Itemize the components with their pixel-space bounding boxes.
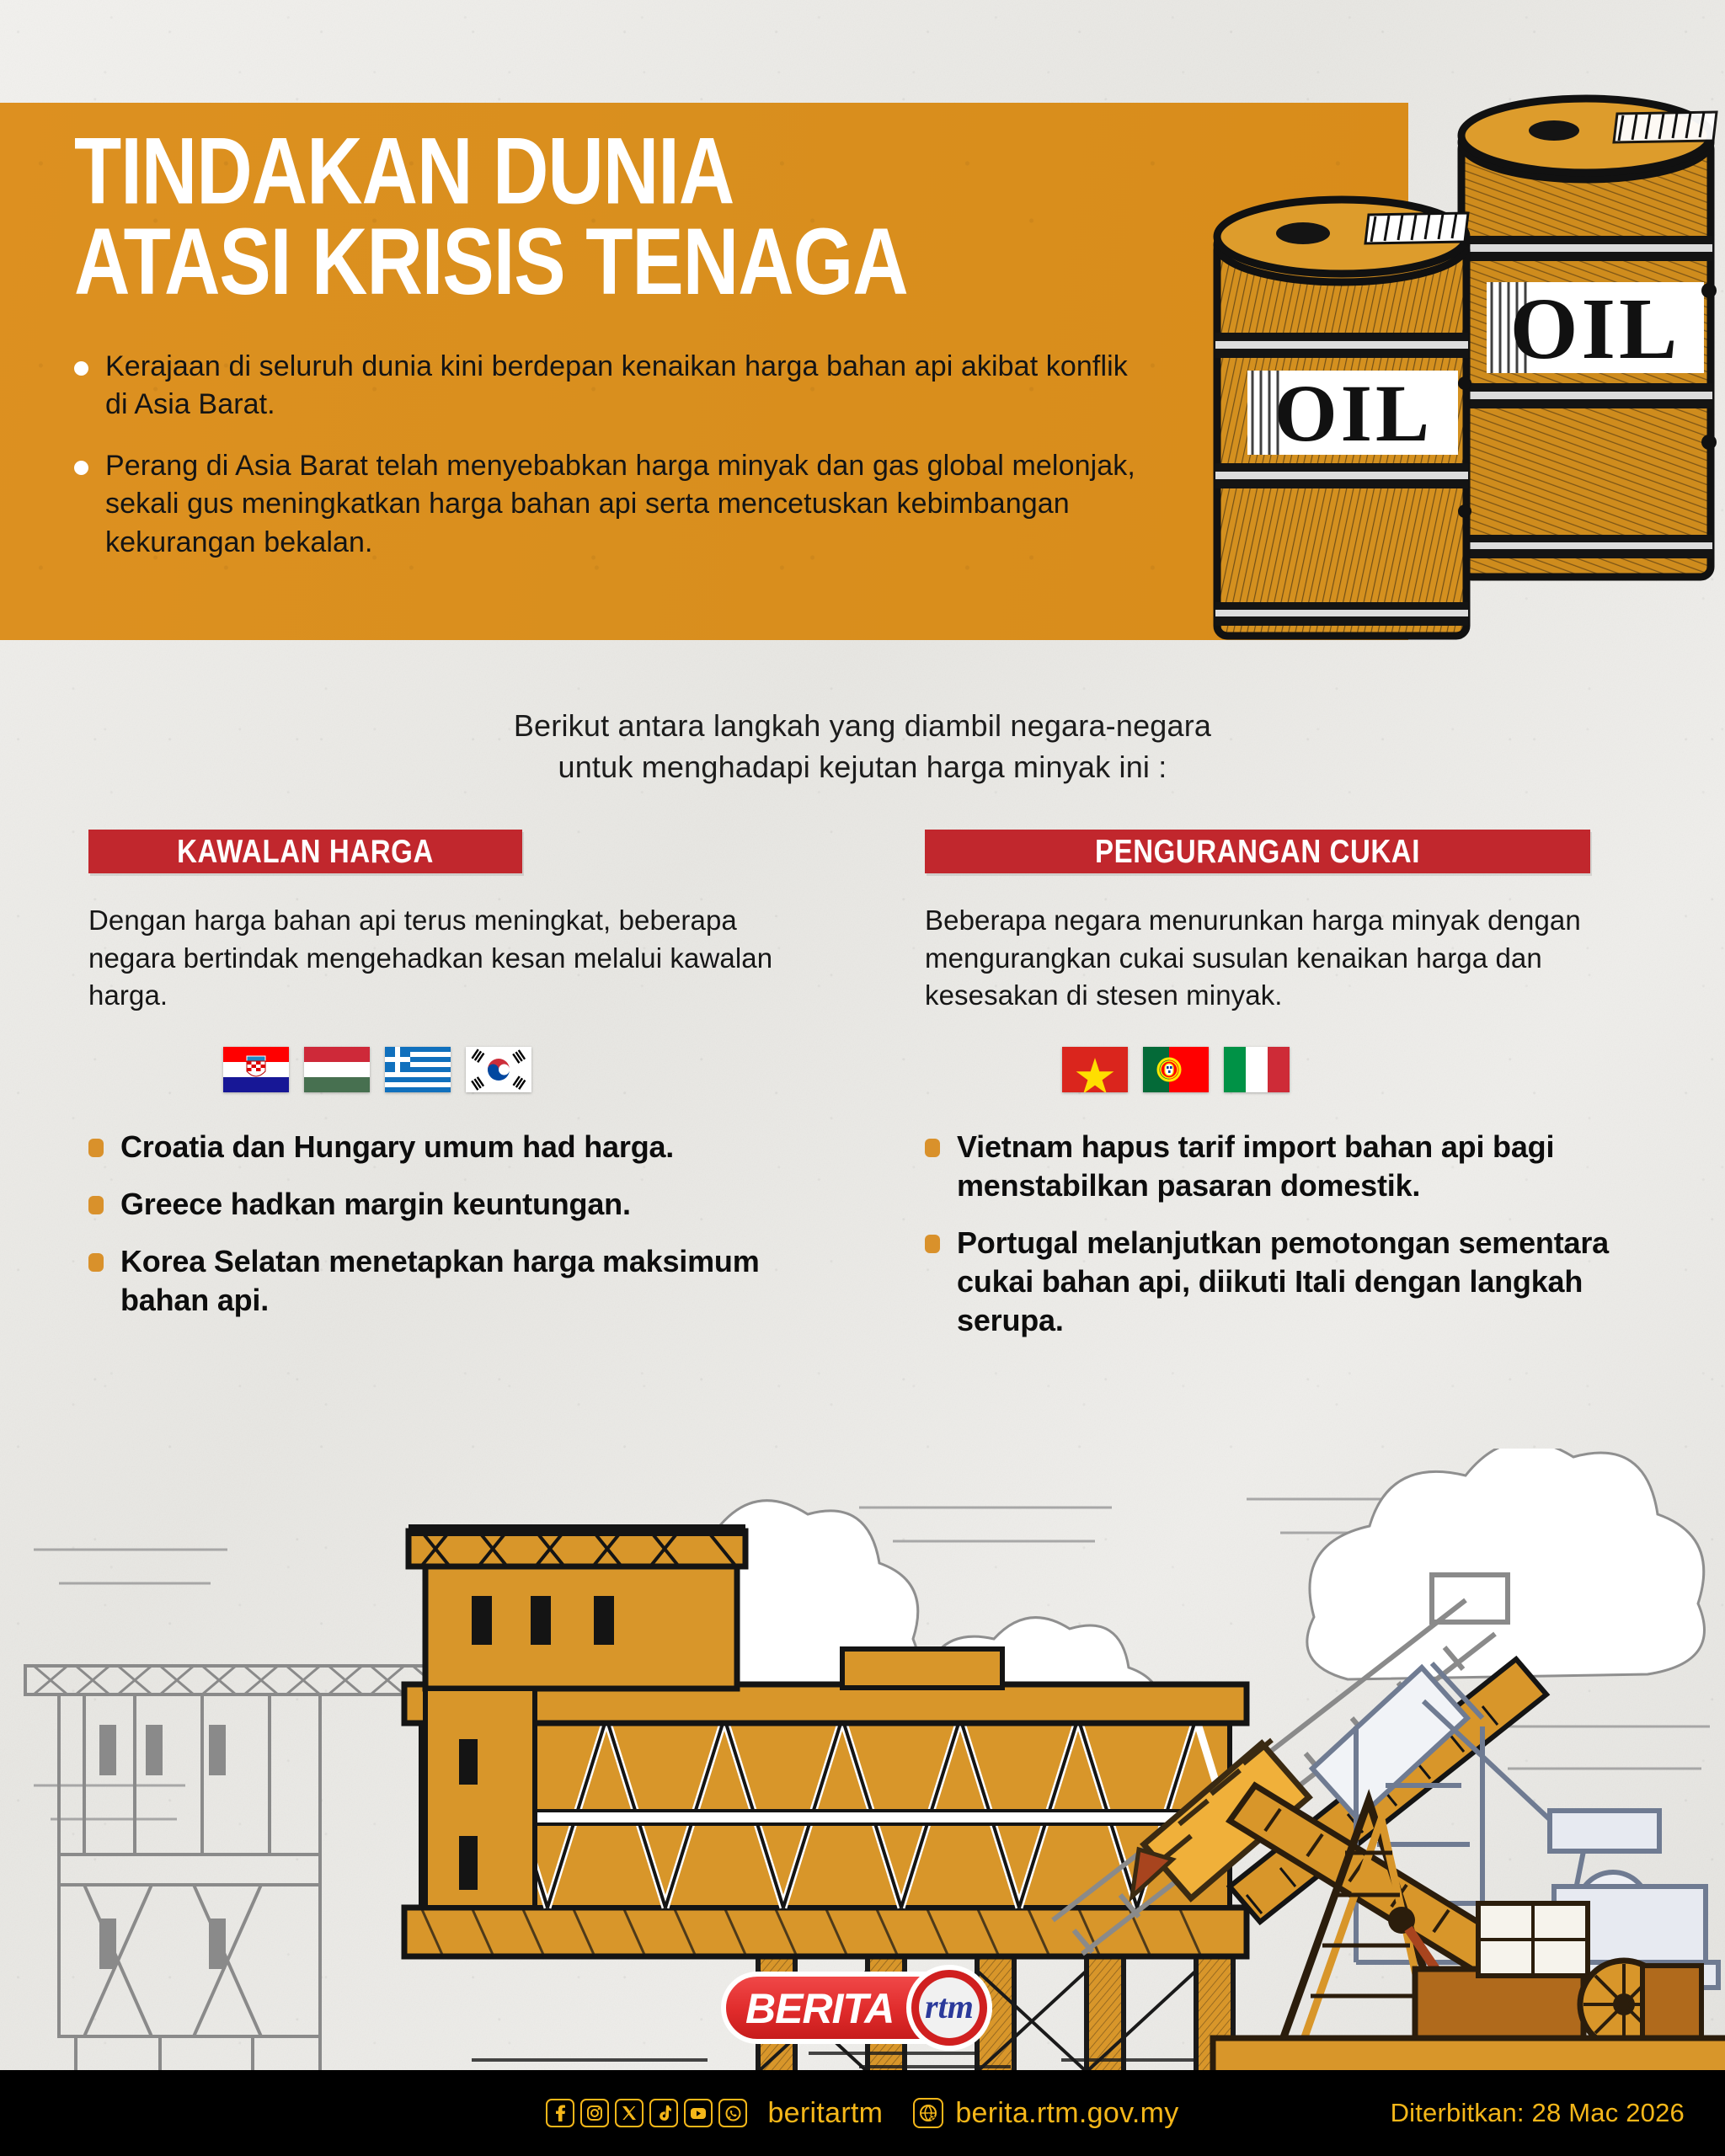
berita-rtm-logo: BERITA rtm — [720, 1962, 1015, 2053]
column-price-control: KAWALAN HARGA Dengan harga bahan api ter… — [88, 830, 800, 1338]
south-korea-flag — [466, 1047, 531, 1092]
point-list-right: Vietnam hapus tarif import bahan api bag… — [925, 1128, 1637, 1340]
oil-barrels-illustration: OIL — [1192, 80, 1725, 661]
hungary-flag — [304, 1047, 370, 1092]
point-text: Portugal melanjutkan pemotongan sementar… — [957, 1224, 1637, 1340]
flag-row-right — [925, 1047, 1637, 1092]
social-icon-row — [546, 2099, 747, 2127]
bullet-dot-icon — [88, 1196, 104, 1214]
oil-barrel-back: OIL — [1460, 99, 1717, 577]
croatia-flag — [223, 1047, 289, 1092]
header-bullet-text: Kerajaan di seluruh dunia kini berdepan … — [105, 348, 1150, 424]
oil-barrel-front: OIL — [1215, 200, 1471, 636]
tiktok-icon[interactable] — [649, 2099, 678, 2127]
svg-text:OIL: OIL — [1510, 280, 1681, 377]
point-item: Vietnam hapus tarif import bahan api bag… — [925, 1128, 1637, 1205]
column-body-text: Beberapa negara menurunkan harga minyak … — [925, 902, 1637, 1015]
column-tax-reduction: PENGURANGAN CUKAI Beberapa negara menuru… — [925, 830, 1637, 1358]
svg-text:OIL: OIL — [1274, 368, 1433, 458]
globe-cursor-icon — [913, 2098, 943, 2128]
header-bullet-list: Kerajaan di seluruh dunia kini berdepan … — [74, 348, 1194, 562]
point-list-left: Croatia dan Hungary umum had harga. Gree… — [88, 1128, 800, 1320]
point-item: Croatia dan Hungary umum had harga. — [88, 1128, 800, 1166]
svg-text:rtm: rtm — [925, 1988, 974, 2025]
column-heading-banner: KAWALAN HARGA — [88, 830, 522, 873]
facebook-icon[interactable] — [546, 2099, 574, 2127]
greece-flag — [385, 1047, 451, 1092]
instagram-icon[interactable] — [580, 2099, 609, 2127]
intro-text: Berikut antara langkah yang diambil nega… — [0, 706, 1725, 788]
bullet-dot-icon — [74, 361, 88, 376]
column-heading-banner: PENGURANGAN CUKAI — [925, 830, 1590, 873]
column-heading-label: PENGURANGAN CUKAI — [1095, 833, 1420, 871]
point-text: Korea Selatan menetapkan harga maksimum … — [120, 1242, 800, 1320]
infographic-poster: OIL — [0, 0, 1725, 2156]
footer-bar: beritartm berita.rtm.gov.my Diterbitkan:… — [0, 2070, 1725, 2156]
smoke-cloud-right — [1307, 1449, 1705, 1679]
bullet-dot-icon — [925, 1235, 940, 1253]
social-handle: beritartm — [767, 2097, 883, 2130]
portugal-flag — [1143, 1047, 1209, 1092]
youtube-icon[interactable] — [684, 2099, 713, 2127]
point-item: Greece hadkan margin keuntungan. — [88, 1185, 800, 1224]
italy-flag — [1224, 1047, 1290, 1092]
column-body-text: Dengan harga bahan api terus meningkat, … — [88, 902, 800, 1015]
header-bullet-item: Perang di Asia Barat telah menyebabkan h… — [74, 447, 1194, 562]
bullet-dot-icon — [74, 461, 88, 475]
column-heading-label: KAWALAN HARGA — [177, 833, 434, 871]
point-item: Portugal melanjutkan pemotongan sementar… — [925, 1224, 1637, 1340]
website-url[interactable]: berita.rtm.gov.my — [955, 2097, 1178, 2130]
point-text: Greece hadkan margin keuntungan. — [120, 1185, 631, 1224]
bullet-dot-icon — [88, 1253, 104, 1272]
point-text: Vietnam hapus tarif import bahan api bag… — [957, 1128, 1637, 1205]
bullet-dot-icon — [88, 1139, 104, 1157]
flag-row-left — [88, 1047, 800, 1092]
publish-date: Diterbitkan: 28 Mac 2026 — [1391, 2098, 1685, 2128]
header-bullet-text: Perang di Asia Barat telah menyebabkan h… — [105, 447, 1150, 562]
page-title: TINDAKAN DUNIA ATASI KRISIS TENAGA — [74, 126, 1194, 307]
x-twitter-icon[interactable] — [615, 2099, 644, 2127]
point-item: Korea Selatan menetapkan harga maksimum … — [88, 1242, 800, 1320]
rtm-mark: rtm — [909, 1967, 990, 2048]
vietnam-flag — [1062, 1047, 1128, 1092]
whatsapp-icon[interactable] — [718, 2099, 747, 2127]
header-bullet-item: Kerajaan di seluruh dunia kini berdepan … — [74, 348, 1194, 424]
header-content: TINDAKAN DUNIA ATASI KRISIS TENAGA Keraj… — [74, 126, 1194, 585]
point-text: Croatia dan Hungary umum had harga. — [120, 1128, 674, 1166]
bullet-dot-icon — [925, 1139, 940, 1157]
berita-wordmark: BERITA — [745, 1985, 894, 2032]
